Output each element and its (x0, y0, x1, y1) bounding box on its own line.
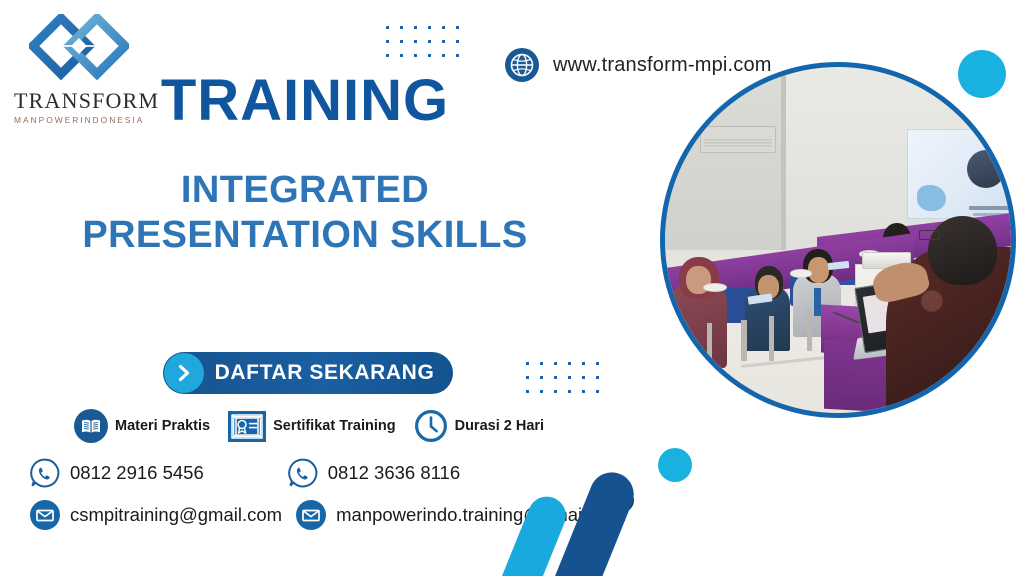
phone-contact-row: 0812 2916 5456 0812 3636 8116 (30, 458, 460, 488)
page-subtitle: INTEGRATED PRESENTATION SKILLS (0, 168, 610, 258)
decor-dot-grid-top (386, 26, 470, 68)
email-address: csmpitraining@gmail.com (70, 504, 282, 526)
register-now-label: DAFTAR SEKARANG (204, 361, 453, 385)
email-contact-1[interactable]: csmpitraining@gmail.com (30, 500, 282, 530)
feature-item-materi-praktis: Materi Praktis (74, 409, 210, 443)
envelope-icon (296, 500, 326, 530)
feature-item-durasi: Durasi 2 Hari (414, 409, 544, 443)
feature-label: Materi Praktis (115, 418, 210, 434)
air-conditioner (700, 126, 776, 154)
envelope-icon (30, 500, 60, 530)
phone-contact-1[interactable]: 0812 2916 5456 (30, 458, 204, 488)
feature-label: Sertifikat Training (273, 418, 395, 434)
page-title: TRAINING (0, 72, 610, 130)
register-now-button[interactable]: DAFTAR SEKARANG (163, 352, 453, 394)
phone-number: 0812 3636 8116 (328, 462, 460, 484)
training-promo-banner: TRANSFORM MANPOWERINDONESIA www.transfor… (0, 0, 1024, 576)
feature-item-sertifikat-training: Sertifikat Training (228, 411, 395, 442)
phone-contact-2[interactable]: 0812 3636 8116 (288, 458, 460, 488)
feature-label: Durasi 2 Hari (455, 418, 544, 434)
decor-circle-cyan-bottom-left (658, 448, 692, 482)
whatsapp-phone-icon (288, 458, 318, 488)
certificate-icon (228, 411, 266, 442)
clock-icon (414, 409, 448, 443)
training-photo (660, 62, 1016, 418)
training-photo-image (665, 67, 1011, 413)
decor-dot-grid-middle (526, 362, 610, 404)
subtitle-line-1: INTEGRATED (0, 168, 610, 213)
whatsapp-phone-icon (30, 458, 60, 488)
feature-list: Materi Praktis Sertifikat Training Duras… (74, 409, 544, 443)
phone-number: 0812 2916 5456 (70, 462, 204, 484)
open-book-icon (74, 409, 108, 443)
projection-screen (907, 129, 1011, 219)
chevron-right-icon (164, 353, 204, 393)
subtitle-line-2: PRESENTATION SKILLS (0, 213, 610, 258)
